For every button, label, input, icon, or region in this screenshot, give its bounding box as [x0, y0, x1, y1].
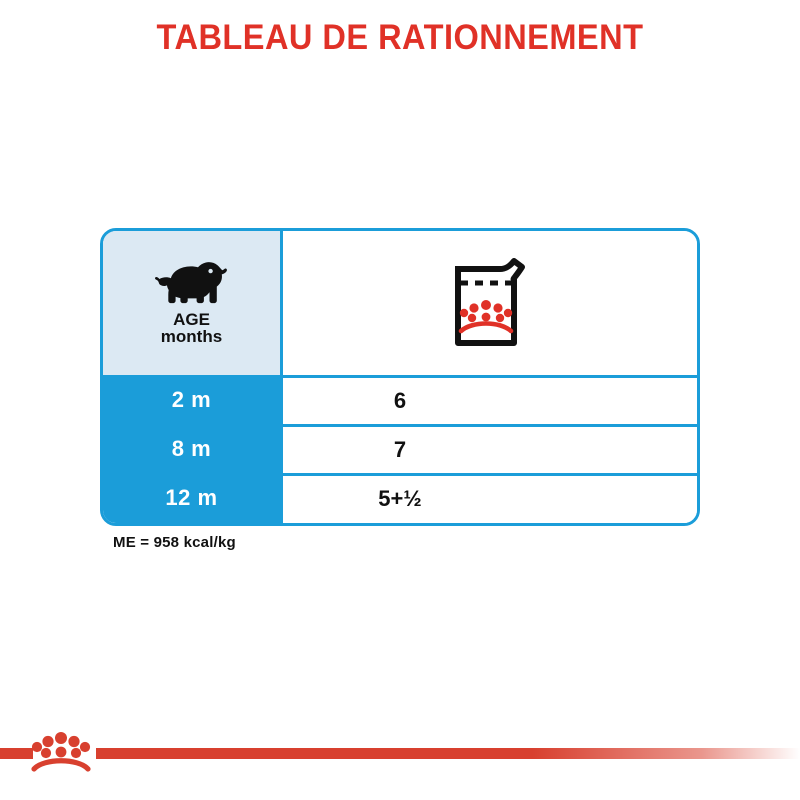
- age-cell: 2 m: [103, 375, 283, 424]
- brand-bar-left-segment: [0, 748, 33, 759]
- puppy-icon: [155, 261, 229, 305]
- age-value: 12 m: [165, 487, 217, 509]
- amount-value: 5+½: [378, 488, 421, 510]
- table-tail: [103, 522, 697, 526]
- brand-bar-right-segment: [96, 748, 800, 759]
- ration-table: AGE months: [100, 228, 700, 526]
- age-value: 2 m: [172, 389, 211, 411]
- table-row: 8 m 7: [103, 424, 697, 473]
- age-header-cell: AGE months: [103, 231, 283, 375]
- age-value: 8 m: [172, 438, 211, 460]
- age-header-label: AGE months: [161, 311, 222, 345]
- product-header-cell: [283, 231, 697, 375]
- royal-canin-crown-icon: [30, 729, 92, 779]
- amount-cell: 5+½: [283, 473, 697, 522]
- table-header-row: AGE months: [103, 231, 697, 375]
- table-tail-age: [103, 522, 283, 526]
- age-cell: 12 m: [103, 473, 283, 522]
- table-row: 2 m 6: [103, 375, 697, 424]
- table-tail-value: [283, 522, 697, 526]
- brand-bar: [0, 748, 800, 800]
- table-row: 12 m 5+½: [103, 473, 697, 522]
- amount-value: 7: [394, 439, 406, 461]
- metabolizable-energy-note: ME = 958 kcal/kg: [113, 534, 236, 551]
- wet-food-pouch-icon: [450, 255, 530, 351]
- page-title: TABLEAU DE RATIONNEMENT: [28, 18, 772, 58]
- age-cell: 8 m: [103, 424, 283, 473]
- amount-cell: 6: [283, 375, 697, 424]
- amount-value: 6: [394, 390, 406, 412]
- amount-cell: 7: [283, 424, 697, 473]
